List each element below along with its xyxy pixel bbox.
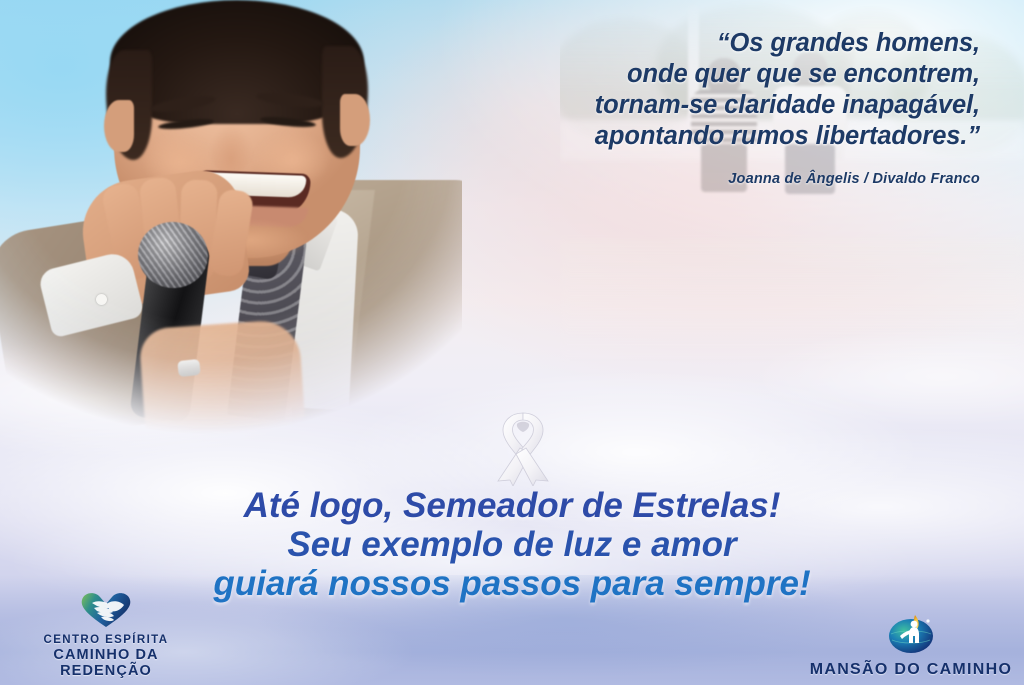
- message-line-1: Até logo, Semeador de Estrelas!: [0, 486, 1024, 525]
- quote-line-2: onde quer que se encontrem,: [420, 59, 980, 90]
- portrait-divaldo-franco: [0, 0, 462, 434]
- logo-mansao-do-caminho: MANSÃO DO CAMINHO: [804, 612, 1018, 679]
- logo-right-line-1: MANSÃO DO CAMINHO: [804, 661, 1018, 679]
- quote-text: “Os grandes homens, onde quer que se enc…: [420, 28, 980, 152]
- globe-figure-flame-icon: [804, 612, 1018, 661]
- memorial-message: Até logo, Semeador de Estrelas! Seu exem…: [0, 486, 1024, 603]
- logo-left-line-2: CAMINHO DA REDENÇÃO: [6, 647, 206, 679]
- quote-line-3: tornam-se claridade inapagável,: [420, 90, 980, 121]
- memorial-poster: “Os grandes homens, onde quer que se enc…: [0, 0, 1024, 685]
- logo-centro-espirita-caminho-da-redencao: CENTRO ESPÍRITA CAMINHO DA REDENÇÃO: [6, 589, 206, 679]
- quote-line-4: apontando rumos libertadores.”: [420, 121, 980, 152]
- quote-attribution: Joanna de Ângelis / Divaldo Franco: [420, 171, 980, 187]
- message-line-2: Seu exemplo de luz e amor: [0, 525, 1024, 564]
- quote-line-1: “Os grandes homens,: [420, 28, 980, 59]
- mourning-ribbon-icon: [487, 408, 559, 486]
- logo-left-line-1: CENTRO ESPÍRITA: [6, 634, 206, 647]
- hands-heart-icon: [6, 589, 206, 634]
